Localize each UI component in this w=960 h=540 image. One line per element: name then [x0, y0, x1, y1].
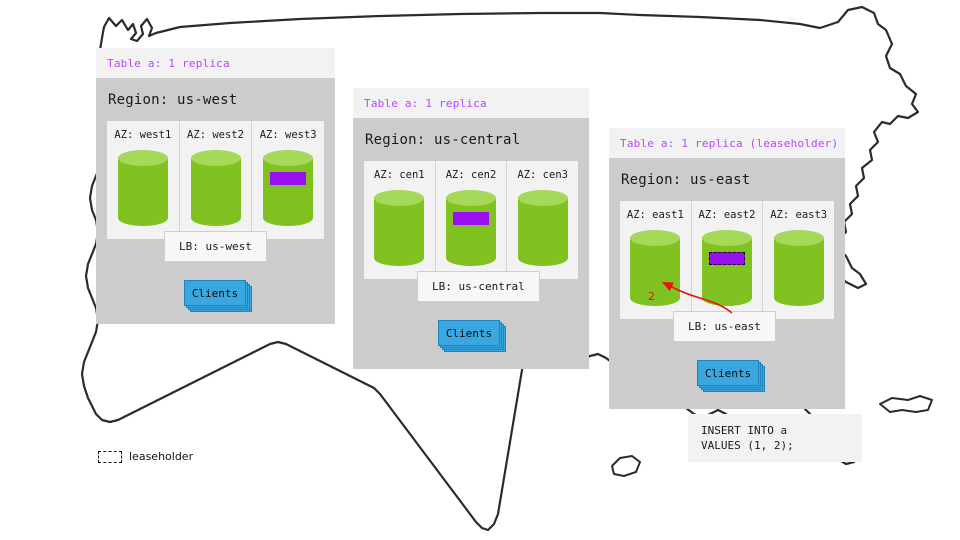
- legend: leaseholder: [98, 450, 193, 463]
- load-balancer-box-us-central[interactable]: LB: us-central: [417, 271, 540, 302]
- az-label: AZ: cen2: [446, 170, 497, 181]
- region-panel-us-east: Table a: 1 replica (leaseholder) Region:…: [609, 128, 845, 409]
- az-label: AZ: cen3: [517, 170, 568, 181]
- node-cylinder-east1[interactable]: [630, 230, 680, 306]
- clients-stack-us-central[interactable]: Clients: [438, 320, 500, 346]
- replica-block: [453, 212, 489, 225]
- region-title: Region: us-west: [96, 78, 335, 121]
- replica-block: [270, 172, 306, 185]
- clients-label[interactable]: Clients: [697, 360, 759, 386]
- az-cell-cen2[interactable]: AZ: cen2: [435, 161, 507, 279]
- cylinder-body: [118, 158, 168, 218]
- cylinder-top: [374, 190, 424, 206]
- cylinder-top: [263, 150, 313, 166]
- cylinder-top: [118, 150, 168, 166]
- node-cylinder-east3[interactable]: [774, 230, 824, 306]
- table-replica-header: Table a: 1 replica: [96, 48, 335, 78]
- cylinder-body: [263, 158, 313, 218]
- az-label: AZ: east3: [770, 210, 827, 221]
- az-label: AZ: east2: [699, 210, 756, 221]
- node-cylinder-cen3[interactable]: [518, 190, 568, 266]
- clients-stack-us-west[interactable]: Clients: [184, 280, 246, 306]
- legend-label: leaseholder: [129, 450, 193, 463]
- az-label: AZ: west2: [187, 130, 244, 141]
- az-label: AZ: west1: [114, 130, 171, 141]
- table-replica-header: Table a: 1 replica (leaseholder): [609, 128, 845, 158]
- sql-statement-box: INSERT INTO a VALUES (1, 2);: [688, 414, 862, 462]
- cylinder-top: [446, 190, 496, 206]
- clients-stack-us-east[interactable]: Clients: [697, 360, 759, 386]
- cylinder-body: [630, 238, 680, 298]
- cylinder-body: [374, 198, 424, 258]
- node-cylinder-west3[interactable]: [263, 150, 313, 226]
- node-cylinder-west1[interactable]: [118, 150, 168, 226]
- cylinder-body: [446, 198, 496, 258]
- region-panel-us-west: Table a: 1 replica Region: us-west AZ: w…: [96, 48, 335, 324]
- az-cell-cen3[interactable]: AZ: cen3: [506, 161, 578, 279]
- az-cell-east1[interactable]: AZ: east1: [620, 201, 691, 319]
- cylinder-body: [702, 238, 752, 298]
- cylinder-top: [191, 150, 241, 166]
- az-cell-west1[interactable]: AZ: west1: [107, 121, 179, 239]
- node-cylinder-east2[interactable]: [702, 230, 752, 306]
- dashed-rect-icon: [98, 451, 122, 463]
- node-cylinder-west2[interactable]: [191, 150, 241, 226]
- az-row: AZ: cen1 AZ: cen2: [364, 161, 578, 279]
- region-panel-us-central: Table a: 1 replica Region: us-central AZ…: [353, 88, 589, 369]
- az-cell-east2[interactable]: AZ: east2: [691, 201, 763, 319]
- cylinder-top: [702, 230, 752, 246]
- cylinder-top: [774, 230, 824, 246]
- node-cylinder-cen2[interactable]: [446, 190, 496, 266]
- az-cell-cen1[interactable]: AZ: cen1: [364, 161, 435, 279]
- diagram-canvas: Table a: 1 replica Region: us-west AZ: w…: [0, 0, 960, 540]
- az-label: AZ: west3: [260, 130, 317, 141]
- az-cell-west3[interactable]: AZ: west3: [251, 121, 324, 239]
- cylinder-body: [518, 198, 568, 258]
- cylinder-body: [191, 158, 241, 218]
- clients-label[interactable]: Clients: [438, 320, 500, 346]
- az-label: AZ: east1: [627, 210, 684, 221]
- clients-label[interactable]: Clients: [184, 280, 246, 306]
- node-cylinder-cen1[interactable]: [374, 190, 424, 266]
- cylinder-body: [774, 238, 824, 298]
- az-row: AZ: west1 AZ: west2 AZ: [107, 121, 324, 239]
- region-title: Region: us-east: [609, 158, 845, 201]
- replica-block-leaseholder: [709, 252, 745, 265]
- load-balancer-box-us-west[interactable]: LB: us-west: [164, 231, 267, 262]
- az-cell-east3[interactable]: AZ: east3: [762, 201, 834, 319]
- arrow-step-label: 2: [648, 290, 655, 303]
- cylinder-top: [518, 190, 568, 206]
- region-title: Region: us-central: [353, 118, 589, 161]
- az-cell-west2[interactable]: AZ: west2: [179, 121, 252, 239]
- az-label: AZ: cen1: [374, 170, 425, 181]
- load-balancer-box-us-east[interactable]: LB: us-east: [673, 311, 776, 342]
- cylinder-top: [630, 230, 680, 246]
- table-replica-header: Table a: 1 replica: [353, 88, 589, 118]
